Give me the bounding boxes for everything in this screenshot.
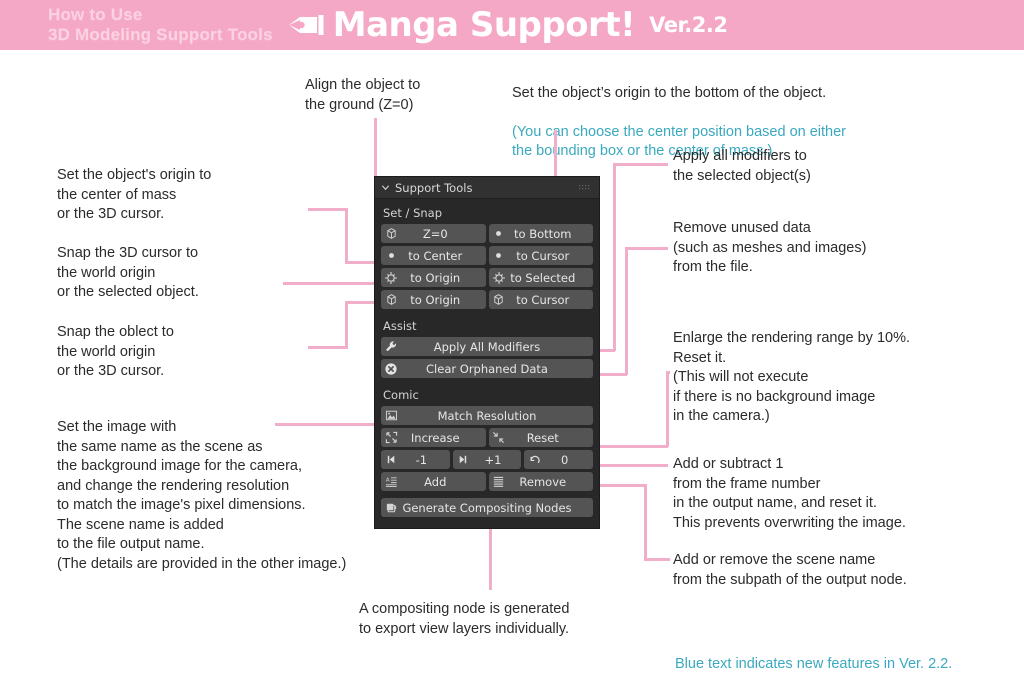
row-apply-modifiers: Apply All Modifiers	[381, 337, 593, 356]
button-remove-scene-name-label: Remove	[509, 475, 594, 489]
connector-snap-object-top	[345, 301, 377, 304]
annotation-apply-modifiers: Apply all modifiers to the selected obje…	[673, 147, 811, 186]
dot-icon	[381, 246, 401, 265]
header-title: Manga Support!	[333, 8, 635, 42]
button-frame-plus-one-label: +1	[473, 453, 522, 467]
button-frame-reset-value: 0	[544, 453, 593, 467]
row-add-remove: A Add Remove	[381, 472, 593, 491]
cube-icon	[381, 290, 401, 309]
annotation-origin-bottom-main: Set the object’s origin to the bottom of…	[512, 84, 846, 104]
annotation-match-resolution: Set the image with the same name as the …	[57, 418, 346, 574]
pen-nib-icon	[287, 11, 327, 39]
connector-snap-cursor	[283, 282, 377, 285]
connector-enlarge-range-h	[600, 445, 668, 448]
button-to-origin-2-label: to Origin	[401, 293, 486, 307]
button-z0[interactable]: Z=0	[381, 224, 486, 243]
row-center-cursor: to Center to Cursor	[381, 246, 593, 265]
button-generate-compositing-nodes[interactable]: Generate Compositing Nodes	[381, 498, 593, 517]
button-to-bottom[interactable]: to Bottom	[489, 224, 594, 243]
button-to-cursor-2[interactable]: to Cursor	[489, 290, 594, 309]
button-reset-label: Reset	[509, 431, 594, 445]
button-z0-label: Z=0	[401, 227, 486, 241]
cube-icon	[489, 290, 509, 309]
infographic-root: How to Use 3D Modeling Support Tools Man…	[0, 0, 1024, 683]
button-add-scene-name-label: Add	[401, 475, 486, 489]
button-frame-reset[interactable]: 0	[524, 450, 593, 469]
wrench-icon	[381, 337, 401, 356]
cursor-3d-icon	[381, 268, 401, 287]
image-icon	[381, 406, 401, 425]
button-frame-minus-one[interactable]: -1	[381, 450, 450, 469]
node-icon	[381, 498, 401, 517]
annotation-snap-cursor: Snap the 3D cursor to the world origin o…	[57, 244, 199, 303]
cube-icon	[381, 224, 401, 243]
button-frame-minus-one-label: -1	[401, 453, 450, 467]
lines-icon	[489, 472, 509, 491]
assist-rows: Apply All Modifiers Clear Orphaned Data	[375, 337, 599, 378]
set-snap-rows: Z=0 to Bottom to Center	[375, 224, 599, 309]
connector-apply-modifiers-v	[613, 163, 616, 351]
button-apply-all-modifiers[interactable]: Apply All Modifiers	[381, 337, 593, 356]
expand-arrows-icon	[381, 428, 401, 447]
chevron-down-icon[interactable]	[381, 183, 390, 192]
row-clear-orphaned: Clear Orphaned Data	[381, 359, 593, 378]
annotation-enlarge-range: Enlarge the rendering range by 10%. Rese…	[673, 329, 910, 427]
connector-scene-name-h	[600, 484, 646, 487]
footer-note: Blue text indicates new features in Ver.…	[675, 655, 952, 674]
annotation-snap-object: Snap the oblect to the world origin or t…	[57, 323, 174, 382]
row-z0-bottom: Z=0 to Bottom	[381, 224, 593, 243]
button-to-center[interactable]: to Center	[381, 246, 486, 265]
connector-remove-unused-v	[625, 247, 628, 375]
connector-center-mass-v	[345, 208, 348, 263]
button-to-center-label: to Center	[401, 249, 486, 263]
button-to-selected-label: to Selected	[509, 271, 594, 285]
panel-header[interactable]: Support Tools	[375, 177, 599, 199]
button-generate-compositing-nodes-label: Generate Compositing Nodes	[401, 501, 593, 515]
page-header: How to Use 3D Modeling Support Tools Man…	[0, 0, 1024, 50]
connector-compositing-nodes	[489, 520, 492, 590]
connector-snap-object-v	[345, 301, 348, 349]
annotation-scene-name-subpath: Add or remove the scene name from the su…	[673, 551, 907, 590]
button-to-cursor-1-label: to Cursor	[509, 249, 594, 263]
button-remove-scene-name[interactable]: Remove	[489, 472, 594, 491]
text-lines-icon: A	[381, 472, 401, 491]
connector-enlarge-range-v	[666, 371, 669, 447]
row-frame-step: -1 +1 0	[381, 450, 593, 469]
button-to-cursor-1[interactable]: to Cursor	[489, 246, 594, 265]
header-version: Ver.2.2	[649, 13, 727, 37]
button-to-origin-1-label: to Origin	[401, 271, 486, 285]
svg-text:A: A	[385, 478, 389, 484]
panel-title: Support Tools	[395, 181, 472, 195]
button-frame-plus-one[interactable]: +1	[453, 450, 522, 469]
connector-apply-modifiers-stub	[600, 349, 615, 352]
button-apply-all-modifiers-label: Apply All Modifiers	[401, 340, 593, 354]
connector-center-mass-bottom	[345, 261, 377, 264]
dot-icon	[489, 224, 509, 243]
button-increase[interactable]: Increase	[381, 428, 486, 447]
button-clear-orphaned-data[interactable]: Clear Orphaned Data	[381, 359, 593, 378]
header-subtitle: How to Use 3D Modeling Support Tools	[48, 5, 273, 45]
connector-scene-name-v	[644, 484, 647, 560]
row-origin-cursor: to Origin to Cursor	[381, 290, 593, 309]
button-to-origin-1[interactable]: to Origin	[381, 268, 486, 287]
button-increase-label: Increase	[401, 431, 486, 445]
comic-rows: Match Resolution Increase Reset	[375, 406, 599, 517]
prev-frame-icon	[381, 450, 401, 469]
cursor-3d-icon	[489, 268, 509, 287]
connector-frame-number	[600, 464, 668, 467]
connector-apply-modifiers-h	[613, 163, 668, 166]
connector-snap-object-bottom	[308, 346, 348, 349]
connector-remove-unused-h	[625, 247, 668, 250]
button-to-selected[interactable]: to Selected	[489, 268, 594, 287]
connector-scene-name-stub	[644, 558, 670, 561]
next-frame-icon	[453, 450, 473, 469]
row-increase-reset: Increase Reset	[381, 428, 593, 447]
button-to-origin-2[interactable]: to Origin	[381, 290, 486, 309]
connector-center-mass-top	[308, 208, 348, 211]
button-reset[interactable]: Reset	[489, 428, 594, 447]
row-match-resolution: Match Resolution	[381, 406, 593, 425]
row-origin-selected: to Origin to Selected	[381, 268, 593, 287]
x-circle-icon	[381, 359, 401, 378]
button-match-resolution-label: Match Resolution	[401, 409, 593, 423]
button-add-scene-name[interactable]: A Add	[381, 472, 486, 491]
annotation-align-ground: Align the object to the ground (Z=0)	[305, 76, 420, 115]
collapse-arrows-icon	[489, 428, 509, 447]
connector-remove-unused-stub	[600, 373, 627, 376]
connector-match-resolution	[275, 423, 375, 426]
section-label-assist: Assist	[375, 312, 599, 337]
annotation-remove-unused: Remove unused data (such as meshes and i…	[673, 219, 866, 278]
section-label-comic: Comic	[375, 381, 599, 406]
annotation-frame-number: Add or subtract 1 from the frame number …	[673, 455, 906, 533]
dot-icon	[489, 246, 509, 265]
header-subtitle-line1: How to Use	[48, 5, 273, 25]
button-to-bottom-label: to Bottom	[509, 227, 594, 241]
header-subtitle-line2: 3D Modeling Support Tools	[48, 25, 273, 45]
row-generate-nodes: Generate Compositing Nodes	[381, 498, 593, 517]
section-label-set-snap: Set / Snap	[375, 199, 599, 224]
button-to-cursor-2-label: to Cursor	[509, 293, 594, 307]
annotation-compositing-node: A compositing node is generated to expor…	[359, 600, 569, 639]
annotation-origin-center-mass: Set the object's origin to the center of…	[57, 166, 211, 225]
support-tools-panel: Support Tools Set / Snap	[374, 176, 600, 529]
undo-icon	[524, 450, 544, 469]
button-match-resolution[interactable]: Match Resolution	[381, 406, 593, 425]
grip-dots-icon[interactable]	[579, 184, 593, 192]
connector-enlarge-range-tip	[666, 371, 670, 374]
button-clear-orphaned-data-label: Clear Orphaned Data	[401, 362, 593, 376]
header-logo: Manga Support! Ver.2.2	[287, 8, 728, 42]
